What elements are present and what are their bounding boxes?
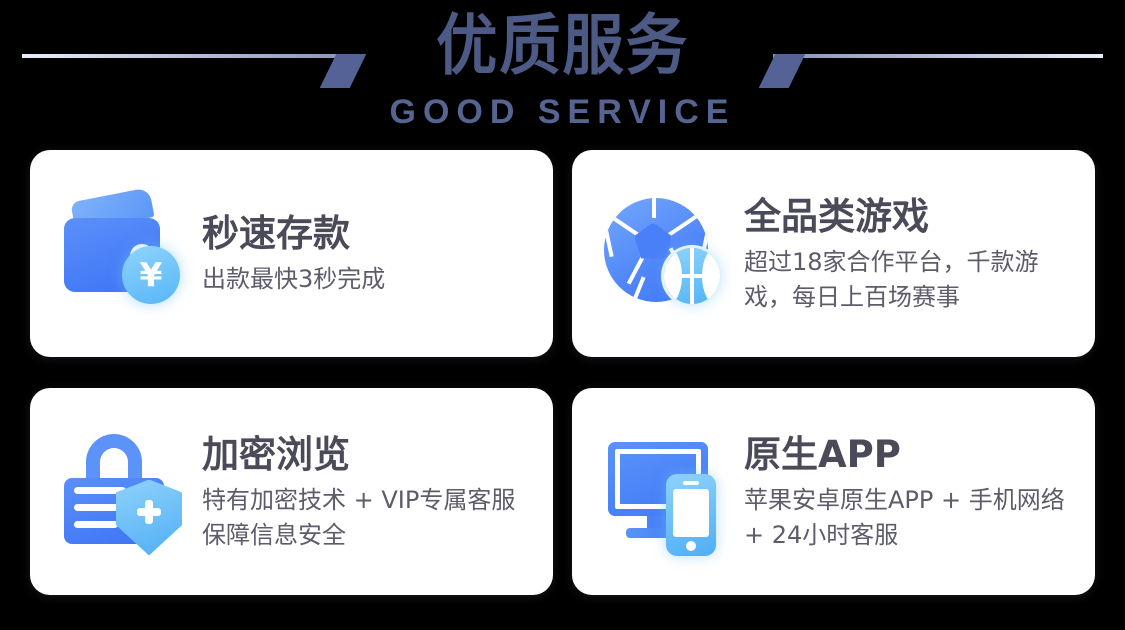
- feature-card-encrypted-browsing[interactable]: 加密浏览 特有加密技术 + VIP专属客服保障信息安全: [30, 388, 553, 595]
- padlock-shield-icon: [60, 428, 188, 556]
- card-subtitle: 特有加密技术 + VIP专属客服保障信息安全: [202, 483, 527, 553]
- basketball-seam-left-curve: [664, 248, 682, 304]
- shield-cross-icon: [137, 508, 161, 516]
- card-title: 秒速存款: [202, 212, 385, 256]
- phone-speaker-shape: [683, 481, 699, 485]
- yuan-coin-shape: ¥: [122, 246, 180, 304]
- wallet-yuan-coin-icon: ¥: [60, 190, 188, 318]
- card-title: 全品类游戏: [744, 195, 1069, 239]
- page-title: 优质服务: [39, 8, 1085, 84]
- card-subtitle: 苹果安卓原生APP + 手机网络 + 24小时客服: [744, 483, 1069, 553]
- card-text-block: 原生APP 苹果安卓原生APP + 手机网络 + 24小时客服: [744, 431, 1069, 553]
- card-title: 原生APP: [744, 433, 1069, 477]
- basketball-seam-right-curve: [702, 248, 720, 304]
- card-subtitle: 超过18家合作平台，千款游戏，每日上百场赛事: [744, 245, 1069, 315]
- page-subtitle: GOOD SERVICE: [0, 92, 1125, 132]
- soccer-basketball-icon: [602, 190, 730, 318]
- feature-card-all-games[interactable]: 全品类游戏 超过18家合作平台，千款游戏，每日上百场赛事: [572, 150, 1095, 357]
- card-text-block: 秒速存款 出款最快3秒完成: [202, 210, 385, 297]
- card-title: 加密浏览: [202, 433, 527, 477]
- card-text-block: 加密浏览 特有加密技术 + VIP专属客服保障信息安全: [202, 431, 527, 553]
- monitor-phone-icon: [602, 428, 730, 556]
- basketball-shape: [664, 248, 720, 304]
- phone-shape: [666, 474, 716, 556]
- phone-screen-shape: [673, 489, 709, 537]
- card-text-block: 全品类游戏 超过18家合作平台，千款游戏，每日上百场赛事: [744, 193, 1069, 315]
- yuan-symbol: ¥: [140, 258, 163, 291]
- feature-card-instant-deposit[interactable]: ¥ 秒速存款 出款最快3秒完成: [30, 150, 553, 357]
- feature-card-grid: ¥ 秒速存款 出款最快3秒完成: [30, 150, 1095, 595]
- feature-card-native-app[interactable]: 原生APP 苹果安卓原生APP + 手机网络 + 24小时客服: [572, 388, 1095, 595]
- page-header: 优质服务 GOOD SERVICE: [0, 0, 1125, 140]
- card-subtitle: 出款最快3秒完成: [202, 262, 385, 297]
- phone-home-button: [686, 541, 696, 551]
- padlock-line-3: [74, 521, 118, 528]
